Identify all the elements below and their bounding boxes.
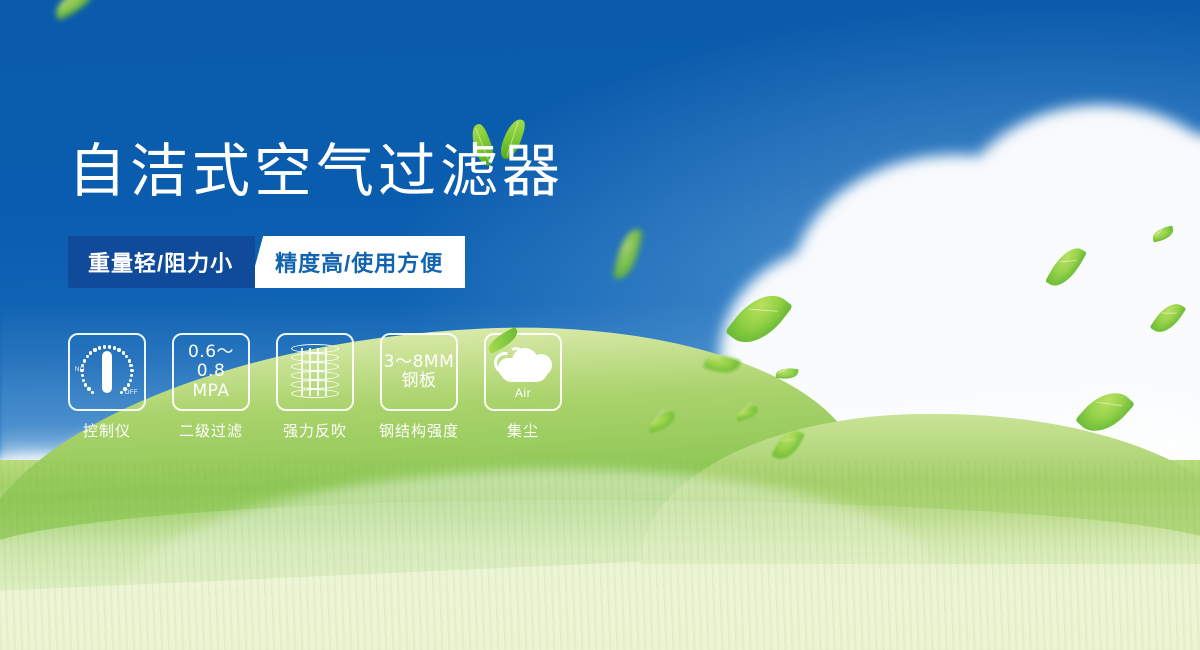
dial-label-off: OFF [125,390,138,396]
feature-item-control[interactable]: NO OFF 控制仪 [68,333,146,441]
feature-label: 集尘 [507,420,539,441]
feature-item-filtration[interactable]: 0.6～0.8 MPA 二级过滤 [172,333,250,441]
dial-gauge-icon: NO OFF [76,341,138,403]
steel-line-1: 3～8MM [384,353,454,372]
grass-texture [0,460,1200,650]
steel-line-2: 钢板 [384,372,454,391]
feature-icon-box: 0.6～0.8 MPA [172,333,250,411]
air-label: Air [492,386,554,400]
subtitle-segment-left: 重量轻/阻力小 [68,236,255,288]
feature-icon-box [276,333,354,411]
feature-item-steel[interactable]: 3～8MM 钢板 钢结构强度 [380,333,458,441]
feature-label: 控制仪 [83,420,131,441]
feature-label: 强力反吹 [283,420,347,441]
feature-icon-box: 3～8MM 钢板 [380,333,458,411]
page-title: 自洁式空气过滤器 [68,142,564,200]
feature-label: 钢结构强度 [379,420,459,441]
feature-label: 二级过滤 [179,420,243,441]
pressure-line-2: MPA [174,382,248,401]
product-hero-banner: 自洁式空气过滤器 重量轻/阻力小 精度高/使用方便 NO OFF 控制仪 0.6… [0,0,1200,650]
coil-spring-icon [291,344,339,400]
pressure-value-icon: 0.6～0.8 MPA [174,343,248,400]
feature-list: NO OFF 控制仪 0.6～0.8 MPA 二级过滤 [68,333,562,441]
subtitle-bar: 重量轻/阻力小 精度高/使用方便 [68,236,465,288]
air-cloud-icon: Air [492,346,554,398]
feature-item-backblow[interactable]: 强力反吹 [276,333,354,441]
feature-icon-box: Air [484,333,562,411]
feature-icon-box: NO OFF [68,333,146,411]
steel-plate-icon: 3～8MM 钢板 [384,353,454,391]
pressure-line-1: 0.6～0.8 [174,343,248,381]
feature-item-dust[interactable]: Air 集尘 [484,333,562,441]
subtitle-segment-right: 精度高/使用方便 [249,236,465,288]
